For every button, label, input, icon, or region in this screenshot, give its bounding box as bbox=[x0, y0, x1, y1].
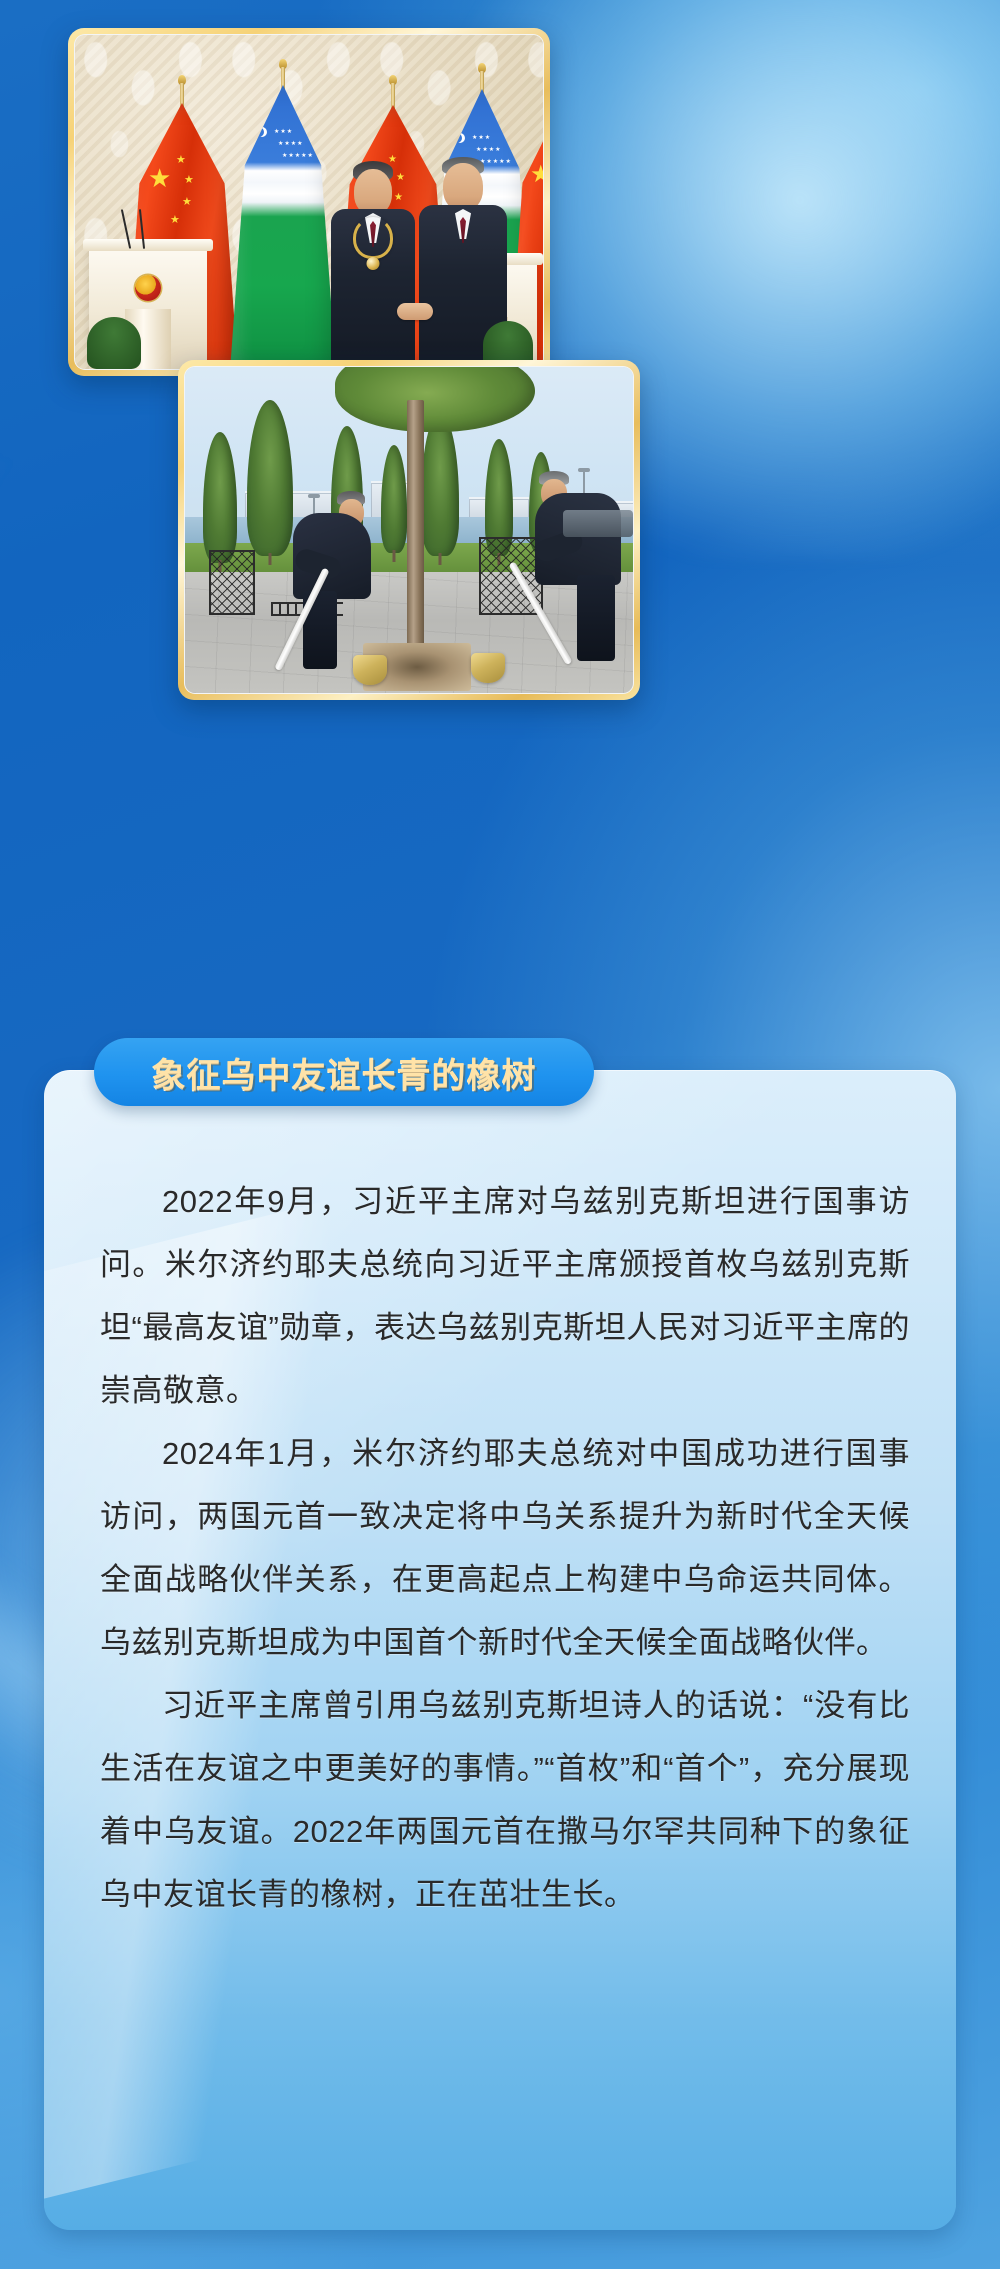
section-title-text: 象征乌中友谊长青的橡树 bbox=[152, 1048, 537, 1097]
uzbekistan-flag-1: ★★★ ★★★★ ★★★★★ bbox=[227, 59, 339, 370]
oak-trunk bbox=[407, 400, 424, 661]
parked-cars bbox=[563, 510, 633, 536]
friendship-medal-sash bbox=[353, 217, 393, 259]
head-2 bbox=[443, 163, 483, 211]
shovel-blade-xi bbox=[353, 655, 387, 685]
potted-plant-left bbox=[87, 317, 141, 369]
crescent-moon-icon-2 bbox=[452, 133, 462, 143]
podium-top-slab bbox=[83, 239, 213, 251]
handshake-photo: ★ ★ ★ ★ ★ ★★★ ★★★★ ★★★★★ ★ ★ bbox=[74, 34, 544, 370]
article-body: 2022年9月，习近平主席对乌兹别克斯坦进行国事访问。米尔济约耶夫总统向习近平主… bbox=[100, 1170, 910, 1926]
article-card: 2022年9月，习近平主席对乌兹别克斯坦进行国事访问。米尔济约耶夫总统向习近平主… bbox=[44, 1070, 956, 2230]
figure-xi-jinping bbox=[331, 161, 415, 369]
national-emblem-icon bbox=[135, 275, 161, 301]
figure-mirziyoyev-planting bbox=[533, 471, 629, 680]
tree-planter-cage-1 bbox=[209, 550, 255, 615]
shovel-blade-mirziyoyev bbox=[471, 653, 505, 683]
article-paragraph-2: 2024年1月，米尔济约耶夫总统对中国成功进行国事访问，两国元首一致决定将中乌关… bbox=[100, 1422, 910, 1674]
article-paragraph-1: 2022年9月，习近平主席对乌兹别克斯坦进行国事访问。米尔济约耶夫总统向习近平主… bbox=[100, 1170, 910, 1422]
tree-planting-photo bbox=[184, 366, 634, 694]
uzbekistan-flag-cloth: ★★★ ★★★★ ★★★★★ bbox=[230, 85, 336, 370]
article-paragraph-3: 习近平主席曾引用乌兹别克斯坦诗人的话说：“没有比生活在友谊之中更美好的事情。”“… bbox=[100, 1674, 910, 1926]
friendship-medal bbox=[367, 257, 380, 270]
section-title-banner: 象征乌中友谊长青的橡树 bbox=[94, 1038, 594, 1106]
trousers-mirziyoyev-planting bbox=[577, 575, 615, 661]
handshake-hands bbox=[397, 303, 433, 320]
crescent-moon-icon bbox=[254, 127, 264, 137]
handshake-photo-frame: ★ ★ ★ ★ ★ ★★★ ★★★★ ★★★★★ ★ ★ bbox=[68, 28, 550, 376]
tree-planting-photo-frame bbox=[178, 360, 640, 700]
figure-xi-planting bbox=[293, 491, 379, 674]
